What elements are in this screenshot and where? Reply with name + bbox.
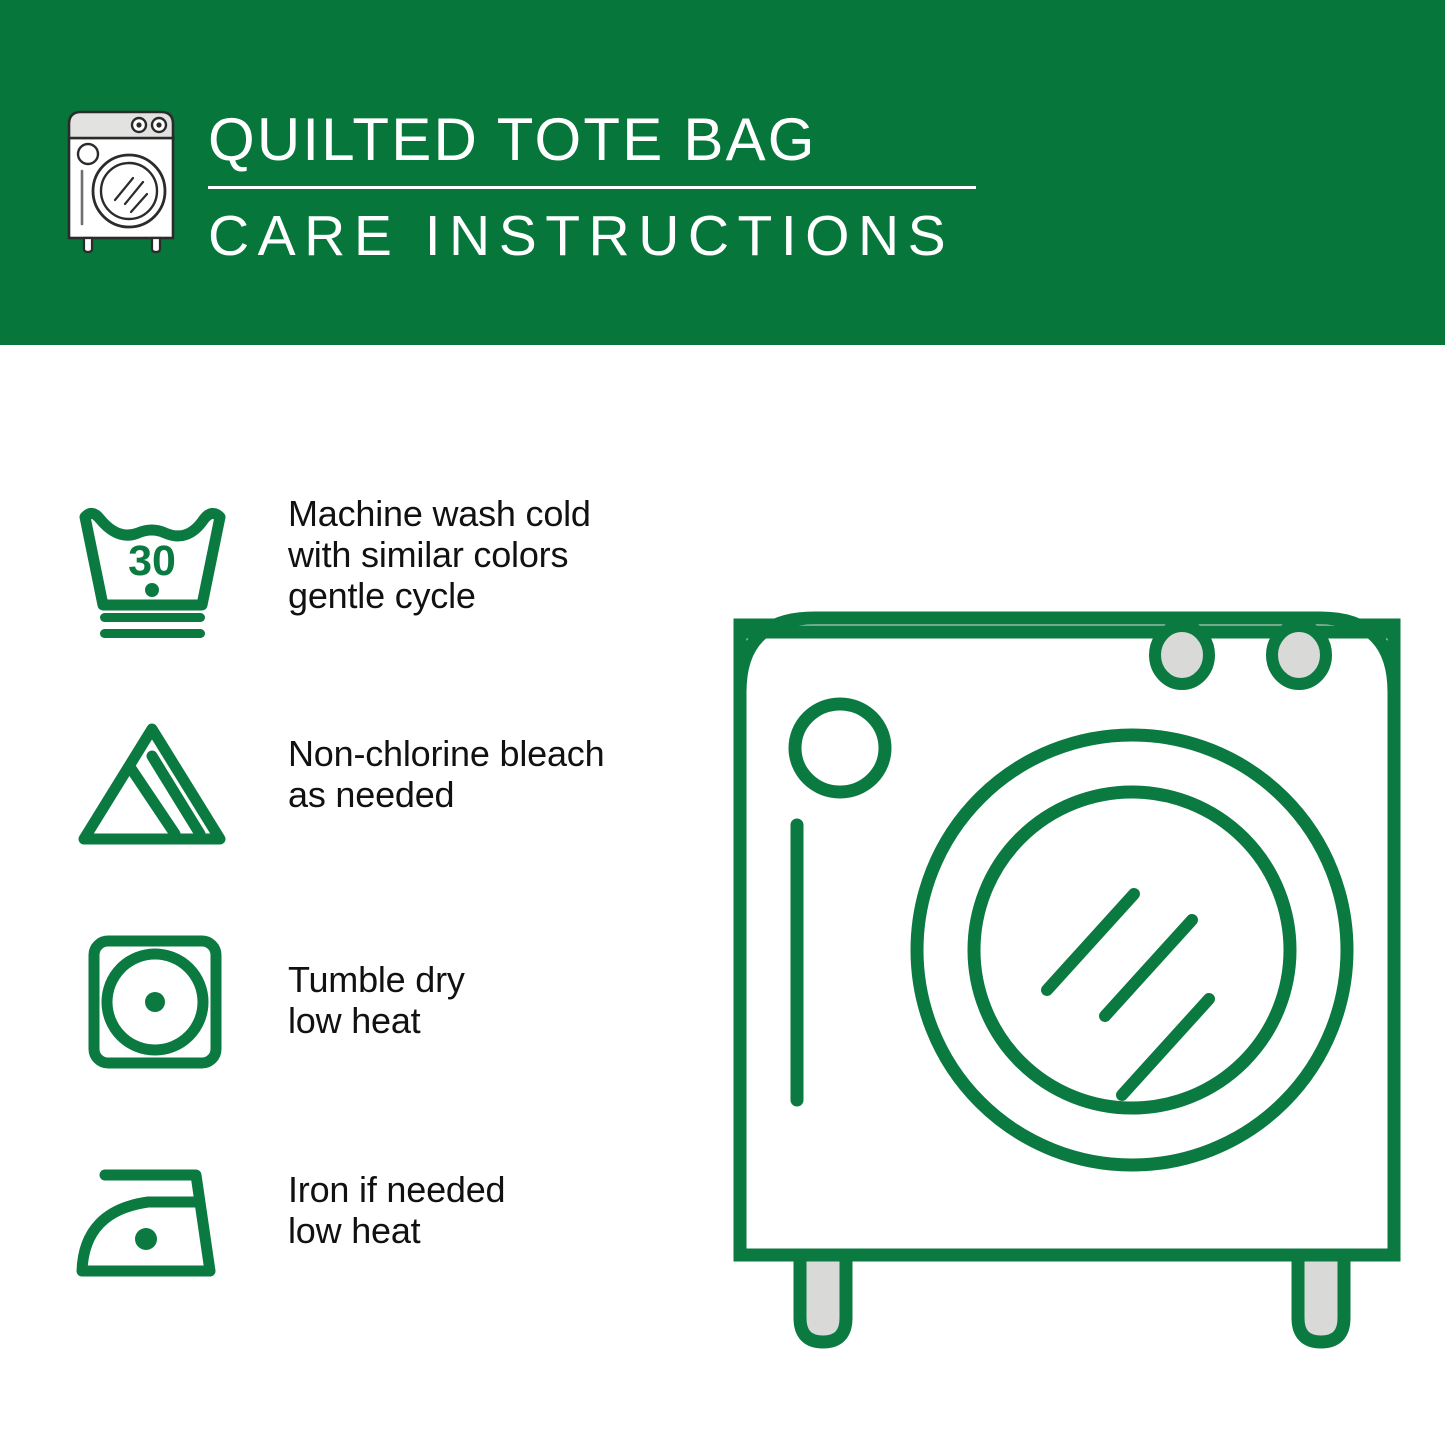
care-line: gentle cycle (288, 575, 690, 616)
header-title-group: QUILTED TOTE BAG CARE INSTRUCTIONS (208, 104, 1008, 269)
care-row-bleach: Non-chlorine bleach as needed (70, 703, 690, 921)
care-text-wash: Machine wash cold with similar colors ge… (235, 485, 690, 616)
care-line: Iron if needed (288, 1169, 690, 1210)
washing-machine-illustration (722, 470, 1422, 1365)
control-knob (1272, 626, 1326, 684)
control-knob (1155, 626, 1209, 684)
care-line: Non-chlorine bleach (288, 733, 690, 774)
machine-leg (1298, 1255, 1344, 1342)
page-title: QUILTED TOTE BAG (208, 104, 1008, 176)
care-line: Machine wash cold (288, 493, 690, 534)
care-text-bleach: Non-chlorine bleach as needed (235, 703, 690, 815)
care-row-iron: Iron if needed low heat (70, 1139, 690, 1357)
machine-leg (800, 1255, 846, 1342)
iron-low-heat-icon (70, 1139, 235, 1304)
header-banner: QUILTED TOTE BAG CARE INSTRUCTIONS (0, 0, 1445, 345)
care-line: low heat (288, 1000, 690, 1041)
page-subtitle: CARE INSTRUCTIONS (208, 203, 1008, 269)
care-row-wash: 30 Machine wash cold with similar colors… (70, 485, 690, 703)
tumble-dry-low-icon (70, 921, 235, 1086)
main-content: 30 Machine wash cold with similar colors… (0, 345, 1445, 1445)
indicator-light (795, 704, 885, 792)
care-text-tumble-dry: Tumble dry low heat (235, 921, 690, 1041)
drum-inner-ring (974, 792, 1290, 1108)
wash-tub-30-icon: 30 (70, 485, 235, 650)
non-chlorine-bleach-triangle-icon (70, 703, 235, 868)
care-line: as needed (288, 774, 690, 815)
care-row-tumble-dry: Tumble dry low heat (70, 921, 690, 1139)
care-instructions-page: QUILTED TOTE BAG CARE INSTRUCTIONS 30 (0, 0, 1445, 1445)
wash-temperature-label: 30 (128, 537, 176, 585)
care-line: low heat (288, 1210, 690, 1251)
care-line: with similar colors (288, 534, 690, 575)
washing-machine-icon (63, 104, 181, 254)
title-divider (208, 186, 976, 189)
care-text-iron: Iron if needed low heat (235, 1139, 690, 1251)
care-line: Tumble dry (288, 959, 690, 1000)
care-instruction-list: 30 Machine wash cold with similar colors… (70, 485, 690, 1357)
